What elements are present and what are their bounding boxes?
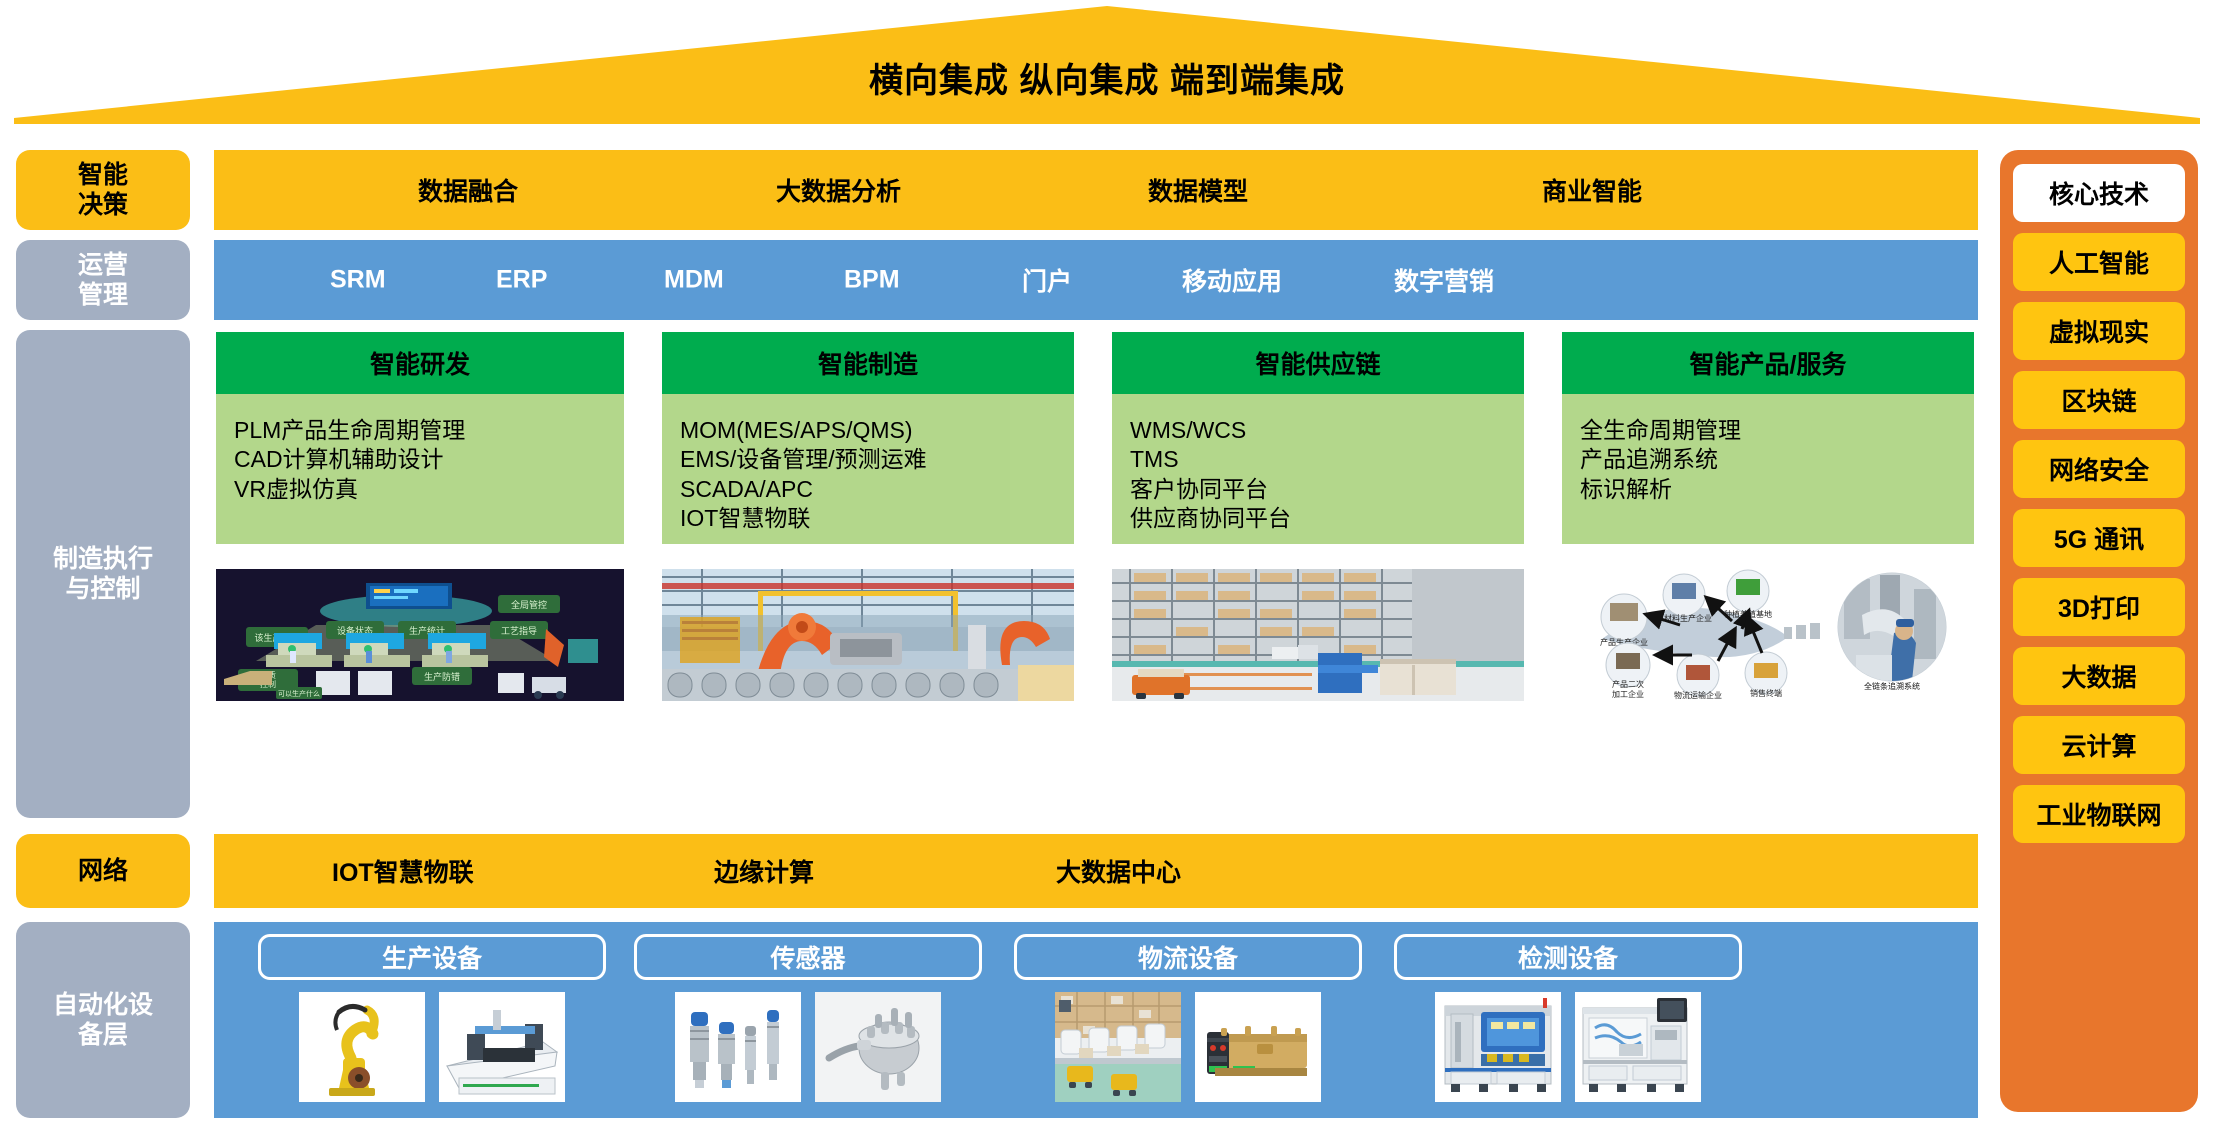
network-item-iot[interactable]: IOT智慧物联 bbox=[332, 853, 474, 889]
pillar-smart-supply-chain-item-2: 客户协同平台 bbox=[1130, 475, 1506, 504]
decision-item-business-intelligence[interactable]: 商业智能 bbox=[1542, 172, 1642, 208]
ops-item-bpm[interactable]: BPM bbox=[844, 266, 900, 295]
svg-text:工艺指导: 工艺指导 bbox=[501, 625, 537, 636]
left-rail-smart-decision-line2: 决策 bbox=[78, 190, 128, 221]
pillar-smart-manufacturing-item-1: EMS/设备管理/预测运难 bbox=[680, 445, 1056, 474]
pillar-smart-supply-chain-items: WMS/WCS TMS 客户协同平台 供应商协同平台 bbox=[1112, 394, 1524, 544]
core-tech-item-3d-printing[interactable]: 3D打印 bbox=[2013, 578, 2185, 636]
left-rail-automation-equipment[interactable]: 自动化设 备层 bbox=[16, 922, 190, 1118]
load-cell-sensor-photo bbox=[815, 992, 941, 1102]
network-item-big-data-center[interactable]: 大数据中心 bbox=[1056, 853, 1181, 889]
equip-group-production: 生产设备 bbox=[258, 934, 606, 1102]
left-rail-network-line1: 网络 bbox=[78, 856, 128, 887]
left-rail-automation-line1: 自动化设 bbox=[53, 990, 153, 1021]
pillar-smart-product-service-item-0: 全生命周期管理 bbox=[1580, 416, 1956, 445]
smart-supply-chain-warehouse-photo bbox=[1112, 569, 1524, 701]
pillar-smart-rnd: 智能研发 PLM产品生命周期管理 CAD计算机辅助设计 VR虚拟仿真 该生产什么… bbox=[216, 332, 624, 701]
pillar-smart-supply-chain-title[interactable]: 智能供应链 bbox=[1112, 332, 1524, 394]
left-rail-operations-management[interactable]: 运营 管理 bbox=[16, 240, 190, 320]
core-technology-rail: 核心技术 人工智能 虚拟现实 区块链 网络安全 5G 通讯 3D打印 大数据 云… bbox=[2000, 150, 2198, 1112]
pillar-smart-rnd-item-1: CAD计算机辅助设计 bbox=[234, 445, 606, 474]
automation-equipment-panel: 生产设备 bbox=[214, 922, 1978, 1118]
conveyor-agv-warehouse-photo bbox=[1055, 992, 1181, 1102]
pillar-smart-supply-chain-item-1: TMS bbox=[1130, 445, 1506, 474]
pillar-smart-product-service-item-1: 产品追溯系统 bbox=[1580, 445, 1956, 474]
smart-decision-band: 数据融合 大数据分析 数据模型 商业智能 bbox=[214, 150, 1978, 230]
ops-item-mdm[interactable]: MDM bbox=[664, 266, 724, 295]
pillar-smart-product-service-item-2: 标识解析 bbox=[1580, 475, 1956, 504]
inspection-machine-photo bbox=[1435, 992, 1561, 1102]
testing-equipment-photo bbox=[1575, 992, 1701, 1102]
decision-item-data-model[interactable]: 数据模型 bbox=[1148, 172, 1248, 208]
smart-rnd-digital-factory-photo: 该生产什么 设备状态 生产统计 工艺指导 全局管控 bbox=[216, 569, 624, 701]
core-tech-item-big-data[interactable]: 大数据 bbox=[2013, 647, 2185, 705]
svg-text:生产防错: 生产防错 bbox=[424, 671, 460, 682]
pillar-smart-manufacturing-item-2: SCADA/APC bbox=[680, 475, 1056, 504]
core-tech-header: 核心技术 bbox=[2013, 164, 2185, 222]
svg-text:可以生产什么: 可以生产什么 bbox=[278, 689, 320, 698]
ops-item-digital-marketing[interactable]: 数字营销 bbox=[1394, 262, 1494, 298]
pillar-smart-rnd-items: PLM产品生命周期管理 CAD计算机辅助设计 VR虚拟仿真 bbox=[216, 394, 624, 544]
equip-group-sensor: 传感器 bbox=[634, 934, 982, 1102]
proximity-sensors-photo bbox=[675, 992, 801, 1102]
pillar-smart-manufacturing-item-3: IOT智慧物联 bbox=[680, 504, 1056, 533]
core-tech-item-ai[interactable]: 人工智能 bbox=[2013, 233, 2185, 291]
welding-robot-arm-photo bbox=[299, 992, 425, 1102]
core-tech-item-iiot[interactable]: 工业物联网 bbox=[2013, 785, 2185, 843]
core-tech-item-blockchain[interactable]: 区块链 bbox=[2013, 371, 2185, 429]
equip-title-inspection[interactable]: 检测设备 bbox=[1394, 934, 1742, 980]
pillar-smart-supply-chain: 智能供应链 WMS/WCS TMS 客户协同平台 供应商协同平台 bbox=[1112, 332, 1524, 701]
svg-text:产品二次: 产品二次 bbox=[1612, 679, 1644, 689]
equip-title-sensor[interactable]: 传感器 bbox=[634, 934, 982, 980]
pillar-smart-product-service: 智能产品/服务 全生命周期管理 产品追溯系统 标识解析 产品生产企业 原材料生产… bbox=[1562, 332, 1974, 701]
left-rail-network[interactable]: 网络 bbox=[16, 834, 190, 908]
pillar-smart-manufacturing-item-0: MOM(MES/APS/QMS) bbox=[680, 416, 1056, 445]
equip-title-logistics[interactable]: 物流设备 bbox=[1014, 934, 1362, 980]
left-rail-automation-line2: 备层 bbox=[53, 1020, 153, 1051]
svg-text:销售终端: 销售终端 bbox=[1750, 688, 1782, 698]
decision-item-big-data-analysis[interactable]: 大数据分析 bbox=[776, 172, 901, 208]
core-tech-item-5g[interactable]: 5G 通讯 bbox=[2013, 509, 2185, 567]
pillar-smart-manufacturing-items: MOM(MES/APS/QMS) EMS/设备管理/预测运难 SCADA/APC… bbox=[662, 394, 1074, 544]
equip-group-inspection: 检测设备 bbox=[1394, 934, 1742, 1102]
decision-item-data-fusion[interactable]: 数据融合 bbox=[418, 172, 518, 208]
left-rail-manufacturing-line2: 与控制 bbox=[53, 574, 153, 605]
equip-group-logistics: 物流设备 bbox=[1014, 934, 1362, 1102]
agv-transport-robot-photo bbox=[1195, 992, 1321, 1102]
smart-product-service-traceability-photo: 产品生产企业 原材料生产企业 种植养殖基地 产品二次 加工企业 bbox=[1562, 569, 1974, 701]
pillar-smart-rnd-item-0: PLM产品生命周期管理 bbox=[234, 416, 606, 445]
operations-management-band: SRM ERP MDM BPM 门户 移动应用 数字营销 bbox=[214, 240, 1978, 320]
roof-triangle-shape bbox=[14, 6, 2200, 124]
ops-item-erp[interactable]: ERP bbox=[496, 266, 547, 295]
pillar-smart-product-service-items: 全生命周期管理 产品追溯系统 标识解析 bbox=[1562, 394, 1974, 544]
equip-title-production[interactable]: 生产设备 bbox=[258, 934, 606, 980]
core-tech-item-vr[interactable]: 虚拟现实 bbox=[2013, 302, 2185, 360]
svg-text:物流运输企业: 物流运输企业 bbox=[1674, 690, 1722, 700]
pillar-smart-supply-chain-item-0: WMS/WCS bbox=[1130, 416, 1506, 445]
pillar-smart-manufacturing: 智能制造 MOM(MES/APS/QMS) EMS/设备管理/预测运难 SCAD… bbox=[662, 332, 1074, 701]
left-rail-smart-decision-line1: 智能 bbox=[78, 160, 128, 191]
pillar-smart-rnd-title[interactable]: 智能研发 bbox=[216, 332, 624, 394]
pillar-smart-rnd-item-2: VR虚拟仿真 bbox=[234, 475, 606, 504]
ops-item-srm[interactable]: SRM bbox=[330, 266, 386, 295]
left-rail-operations-line2: 管理 bbox=[78, 280, 128, 311]
network-item-edge-computing[interactable]: 边缘计算 bbox=[714, 853, 814, 889]
svg-text:全局管控: 全局管控 bbox=[511, 599, 547, 610]
network-band: IOT智慧物联 边缘计算 大数据中心 bbox=[214, 834, 1978, 908]
integration-roof-banner: 横向集成 纵向集成 端到端集成 bbox=[14, 6, 2200, 124]
left-rail-smart-decision[interactable]: 智能 决策 bbox=[16, 150, 190, 230]
left-rail-manufacturing-line1: 制造执行 bbox=[53, 544, 153, 575]
svg-text:全链条追溯系统: 全链条追溯系统 bbox=[1864, 681, 1920, 691]
smart-manufacturing-robot-line-photo bbox=[662, 569, 1074, 701]
pillar-smart-manufacturing-title[interactable]: 智能制造 bbox=[662, 332, 1074, 394]
core-tech-item-cloud[interactable]: 云计算 bbox=[2013, 716, 2185, 774]
pillar-smart-supply-chain-item-3: 供应商协同平台 bbox=[1130, 504, 1506, 533]
svg-text:加工企业: 加工企业 bbox=[1612, 689, 1644, 699]
pillar-smart-product-service-title[interactable]: 智能产品/服务 bbox=[1562, 332, 1974, 394]
laser-cutting-machine-photo bbox=[439, 992, 565, 1102]
left-rail-manufacturing-execution[interactable]: 制造执行 与控制 bbox=[16, 330, 190, 818]
left-rail-operations-line1: 运营 bbox=[78, 250, 128, 281]
ops-item-mobile-app[interactable]: 移动应用 bbox=[1182, 262, 1282, 298]
ops-item-portal[interactable]: 门户 bbox=[1022, 262, 1072, 298]
core-tech-item-cybersecurity[interactable]: 网络安全 bbox=[2013, 440, 2185, 498]
